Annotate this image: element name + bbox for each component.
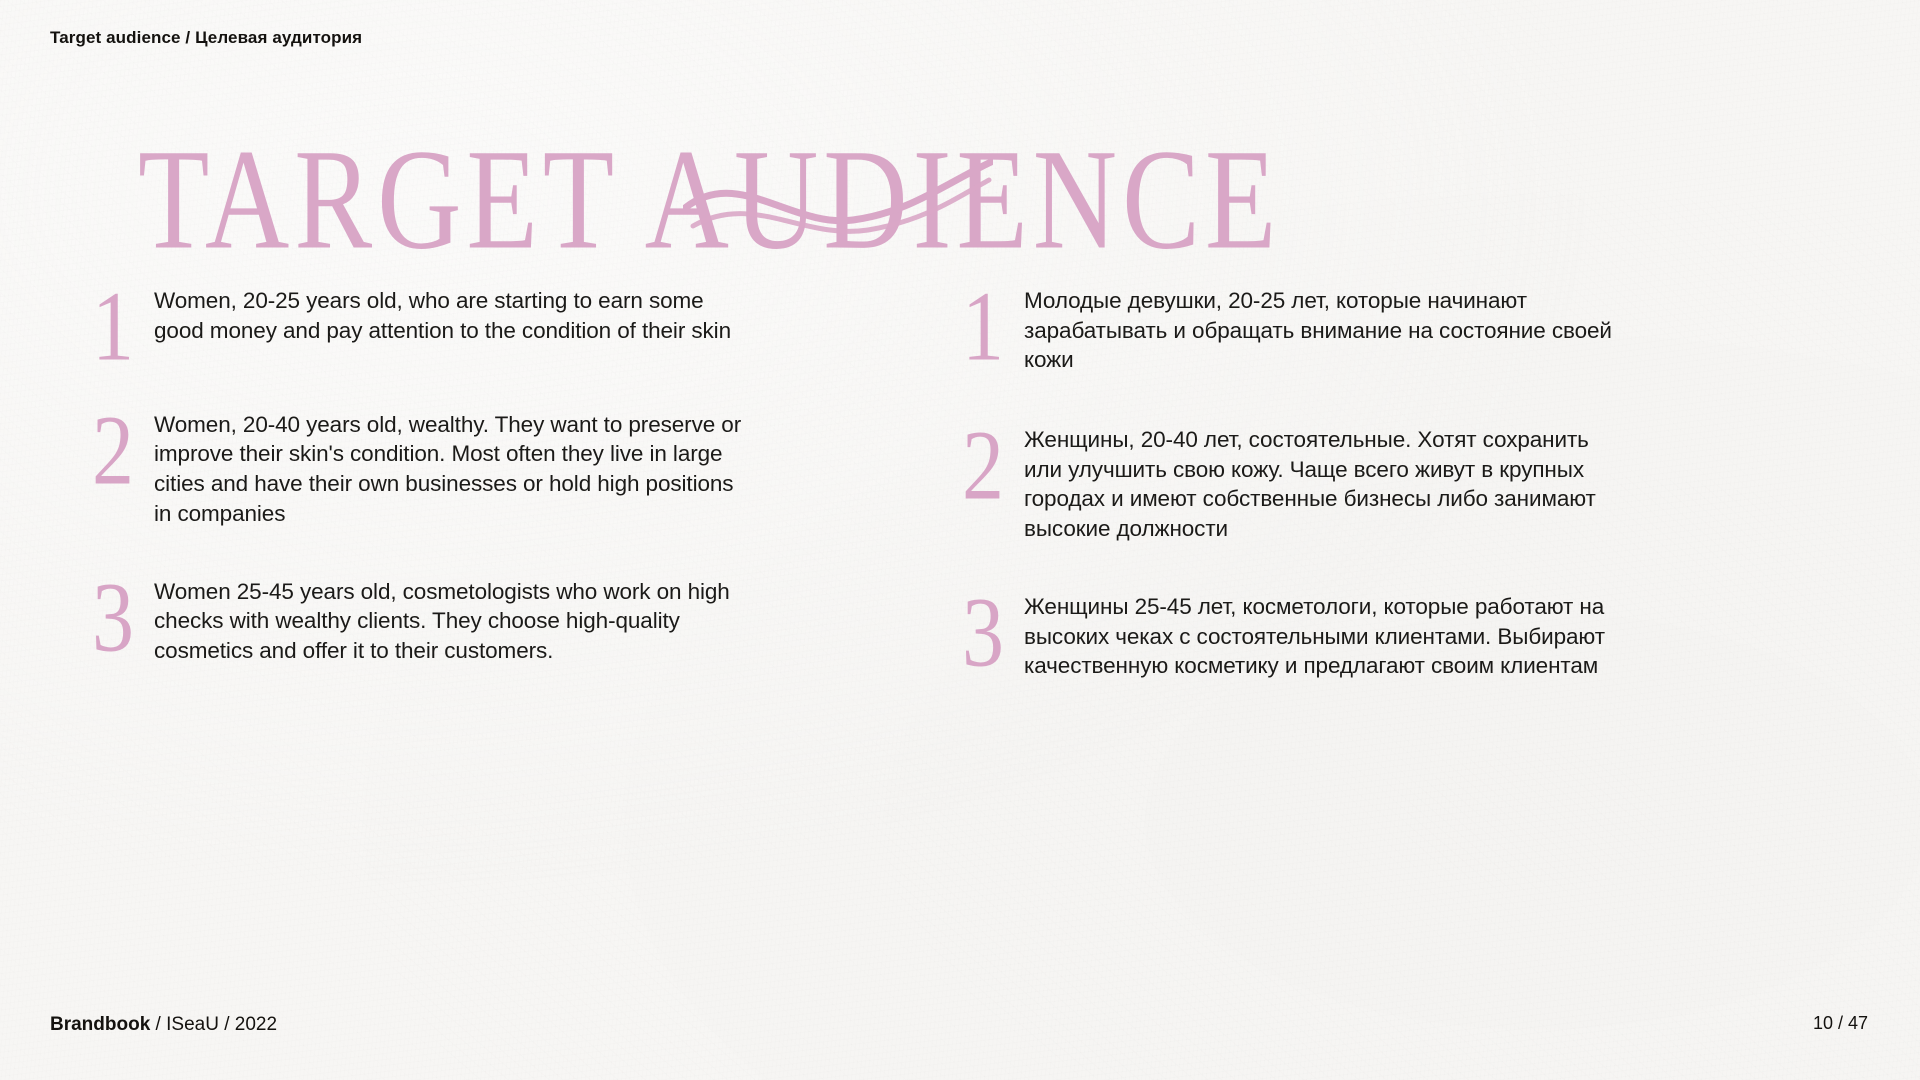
page-title: TARGET AUDIENCE xyxy=(138,128,1227,272)
display-title-block: TARGET AUDIENCE xyxy=(138,128,1238,238)
footer-brand-meta: / ISeaU / 2022 xyxy=(150,1014,277,1035)
audience-column-russian: 1 Молодые девушки, 20-25 лет, которые на… xyxy=(962,278,1752,717)
audience-item-number: 3 xyxy=(962,584,1024,681)
page-number: 10 / 47 xyxy=(1813,1013,1868,1034)
audience-column-english: 1 Women, 20-25 years old, who are starti… xyxy=(92,278,882,702)
audience-item: 2 Женщины, 20-40 лет, состоятельные. Хот… xyxy=(962,417,1752,544)
audience-item-number: 1 xyxy=(962,278,1024,375)
footer-brand: Brandbook / ISeaU / 2022 xyxy=(50,1014,277,1036)
audience-item-text: Женщины, 20-40 лет, состоятельные. Хотят… xyxy=(1024,417,1624,544)
audience-item-text: Women 25-45 years old, cosmetologists wh… xyxy=(154,569,754,666)
audience-item-number: 1 xyxy=(92,278,154,375)
audience-item-text: Women, 20-40 years old, wealthy. They wa… xyxy=(154,402,754,529)
audience-item: 2 Women, 20-40 years old, wealthy. They … xyxy=(92,402,882,529)
footer-brand-name: Brandbook xyxy=(50,1014,150,1035)
audience-item-number: 3 xyxy=(92,569,154,666)
audience-item-number: 2 xyxy=(962,417,1024,514)
audience-item-number: 2 xyxy=(92,402,154,499)
audience-item-text: Молодые девушки, 20-25 лет, которые начи… xyxy=(1024,278,1624,375)
page-header: Target audience / Целевая аудитория xyxy=(50,28,362,48)
audience-item-text: Женщины 25-45 лет, косметологи, которые … xyxy=(1024,584,1624,681)
audience-item-text: Women, 20-25 years old, who are starting… xyxy=(154,278,754,345)
audience-item: 1 Women, 20-25 years old, who are starti… xyxy=(92,278,882,360)
audience-item: 1 Молодые девушки, 20-25 лет, которые на… xyxy=(962,278,1752,375)
slide: Target audience / Целевая аудитория TARG… xyxy=(0,0,1920,1080)
audience-item: 3 Women 25-45 years old, cosmetologists … xyxy=(92,569,882,666)
audience-item: 3 Женщины 25-45 лет, косметологи, которы… xyxy=(962,584,1752,681)
